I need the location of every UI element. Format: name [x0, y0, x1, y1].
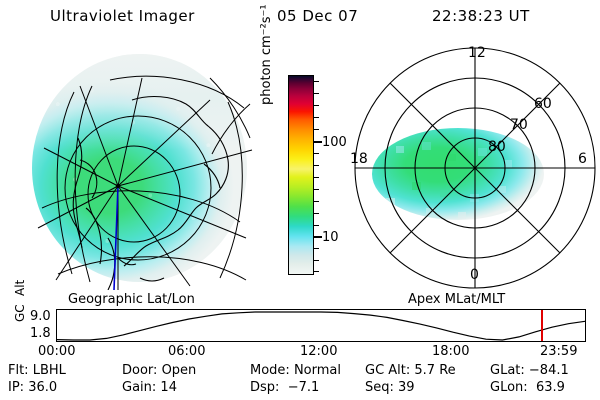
current-time-marker — [541, 310, 543, 341]
observation-time: 22:38:23 UT — [432, 9, 530, 24]
status-mode-value: Normal — [294, 363, 341, 378]
colorbar-axis-title: photon cm⁻²s⁻¹ — [260, 0, 273, 105]
status-gain: Gain: 14 — [122, 381, 177, 394]
left-panel-subtitle: Geographic Lat/Lon — [68, 293, 195, 306]
time-tick-0600: 06:00 — [168, 345, 205, 358]
colorbar-tick-100: 100 — [322, 136, 347, 149]
status-seq-value: 39 — [398, 380, 415, 395]
status-glat-label: GLat: — [490, 363, 525, 378]
status-glat-value: −84.1 — [529, 363, 569, 378]
mlt-label-12: 12 — [468, 46, 486, 60]
orbit-altitude-plot[interactable] — [56, 309, 586, 342]
status-gain-label: Gain: — [122, 380, 156, 395]
status-dsp-value: −7.1 — [288, 380, 320, 395]
orbit-altitude-curve — [57, 310, 585, 341]
time-tick-0000: 00:00 — [38, 345, 75, 358]
status-gcalt: GC Alt: 5.7 Re — [365, 364, 456, 377]
auroral-oval-emission — [372, 128, 544, 220]
status-filter-label: Flt: — [8, 363, 29, 378]
mlt-label-6: 6 — [578, 152, 587, 166]
status-glon-value: 63.9 — [536, 380, 565, 395]
intensity-colorbar[interactable] — [288, 75, 314, 275]
status-ip: IP: 36.0 — [8, 381, 57, 394]
status-filter: Flt: LBHL — [8, 364, 66, 377]
observation-date: 05 Dec 07 — [277, 9, 358, 24]
time-tick-1200: 12:00 — [300, 345, 337, 358]
status-gain-value: 14 — [160, 380, 177, 395]
right-panel-subtitle: Apex MLat/MLT — [408, 293, 505, 306]
orbit-yaxis-label-line1: Alt — [14, 280, 26, 296]
instrument-title: Ultraviolet Imager — [50, 9, 195, 24]
status-ip-label: IP: — [8, 380, 24, 395]
status-gcalt-label: GC Alt: — [365, 363, 410, 378]
status-mode-label: Mode: — [250, 363, 290, 378]
status-filter-value: LBHL — [33, 363, 66, 378]
time-tick-2359: 23:59 — [540, 345, 577, 358]
status-dsp: Dsp: −7.1 — [250, 381, 319, 394]
status-door-value: Open — [162, 363, 197, 378]
status-door-label: Door: — [122, 363, 157, 378]
status-dsp-label: Dsp: — [250, 380, 279, 395]
colorbar-gradient — [289, 76, 313, 274]
orbit-yaxis-label-line2: GC — [14, 304, 26, 322]
orbit-ytick-bottom: 1.8 — [30, 327, 51, 340]
mlat-label-70: 70 — [510, 118, 528, 132]
time-tick-1800: 18:00 — [432, 345, 469, 358]
status-glon: GLon: 63.9 — [490, 381, 565, 394]
status-glat: GLat: −84.1 — [490, 364, 569, 377]
mlt-label-18: 18 — [350, 152, 368, 166]
orbit-ytick-top: 9.0 — [30, 310, 51, 323]
status-ip-value: 36.0 — [28, 380, 57, 395]
apex-polar-panel[interactable] — [352, 42, 600, 290]
pole-marker — [116, 184, 120, 188]
status-gcalt-value: 5.7 Re — [414, 363, 455, 378]
polar-grid-overlay — [352, 42, 600, 290]
status-glon-label: GLon: — [490, 380, 528, 395]
geographic-overlay — [14, 42, 264, 290]
status-mode: Mode: Normal — [250, 364, 341, 377]
colorbar-tick-10: 10 — [322, 231, 339, 244]
uv-imager-display: Ultraviolet Imager 05 Dec 07 22:38:23 UT — [0, 0, 600, 400]
mlat-label-80: 80 — [488, 140, 506, 154]
colorbar-ticks — [314, 75, 322, 275]
geographic-image-panel[interactable] — [14, 42, 264, 290]
status-seq: Seq: 39 — [365, 381, 415, 394]
status-door: Door: Open — [122, 364, 196, 377]
status-seq-label: Seq: — [365, 380, 394, 395]
mlt-label-0: 0 — [470, 268, 479, 282]
mlat-label-60: 60 — [534, 97, 552, 111]
